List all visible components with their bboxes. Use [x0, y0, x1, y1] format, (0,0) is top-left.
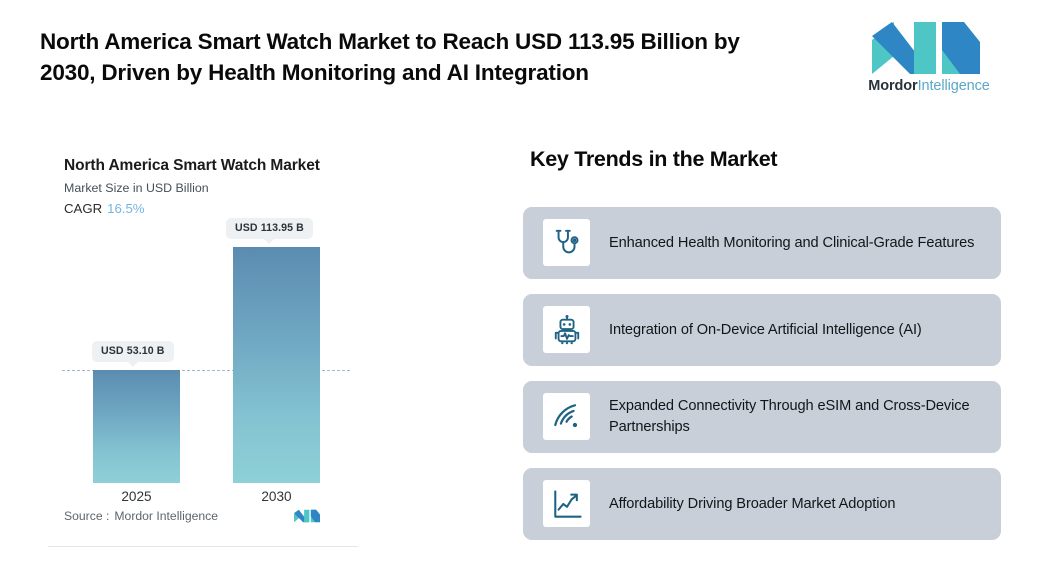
trend-label: Affordability Driving Broader Market Ado…: [609, 468, 983, 540]
key-trends-list: Enhanced Health Monitoring and Clinical-…: [523, 207, 1001, 555]
brand-word-primary: Mordor: [868, 78, 917, 94]
brand-word-secondary: Intelligence: [918, 78, 990, 94]
mordor-logo-mark: [872, 22, 980, 74]
trend-card-affordability-adoption[interactable]: Affordability Driving Broader Market Ado…: [523, 468, 1001, 540]
key-trends-heading: Key Trends in the Market: [530, 147, 777, 172]
trend-card-connectivity-esim[interactable]: Expanded Connectivity Through eSIM and C…: [523, 381, 1001, 453]
trend-icon-tile: [543, 306, 590, 353]
chart-source-value: Mordor Intelligence: [114, 509, 218, 523]
page-header: North America Smart Watch Market to Reac…: [0, 0, 1050, 118]
page-title: North America Smart Watch Market to Reac…: [40, 26, 850, 88]
chart-source-label: Source :: [64, 509, 109, 523]
trend-card-on-device-ai[interactable]: Integration of On-Device Artificial Inte…: [523, 294, 1001, 366]
chart-cagr-value: 16.5%: [107, 201, 144, 216]
bar-value-badge-2030: USD 113.95 B: [226, 218, 313, 239]
mordor-intelligence-logo: MordorIntelligence: [866, 22, 992, 100]
mordor-logo-wordmark: MordorIntelligence: [866, 78, 992, 94]
trend-label: Integration of On-Device Artificial Inte…: [609, 294, 983, 366]
x-axis-label-2030: 2030: [233, 489, 320, 504]
chart-cagr: CAGR16.5%: [64, 201, 145, 216]
chart-panel: North America Smart Watch Market Market …: [48, 140, 358, 547]
chart-title: North America Smart Watch Market: [64, 157, 320, 175]
chart-source: Source :Mordor Intelligence: [64, 509, 218, 523]
trend-card-health-monitoring[interactable]: Enhanced Health Monitoring and Clinical-…: [523, 207, 1001, 279]
bar-2025[interactable]: [93, 370, 180, 483]
wifi-signal-icon: [552, 402, 582, 432]
trend-icon-tile: [543, 219, 590, 266]
stethoscope-icon: [552, 228, 582, 258]
x-axis-label-2025: 2025: [93, 489, 180, 504]
chart-cagr-label: CAGR: [64, 201, 102, 216]
trend-label: Expanded Connectivity Through eSIM and C…: [609, 381, 983, 453]
chart-subtitle: Market Size in USD Billion: [64, 181, 209, 195]
growth-chart-icon: [552, 489, 582, 519]
trend-label: Enhanced Health Monitoring and Clinical-…: [609, 207, 983, 279]
bar-value-badge-2025: USD 53.10 B: [92, 341, 174, 362]
bar-2030[interactable]: [233, 247, 320, 483]
trend-icon-tile: [543, 480, 590, 527]
bar-chart-plot-area: USD 53.10 B USD 113.95 B 2025 2030: [48, 236, 358, 486]
trend-icon-tile: [543, 393, 590, 440]
robot-icon: [552, 315, 582, 345]
key-trends-panel: Key Trends in the Market Enhanced Health…: [523, 140, 1001, 546]
mordor-logo-mark-small: [294, 508, 320, 524]
